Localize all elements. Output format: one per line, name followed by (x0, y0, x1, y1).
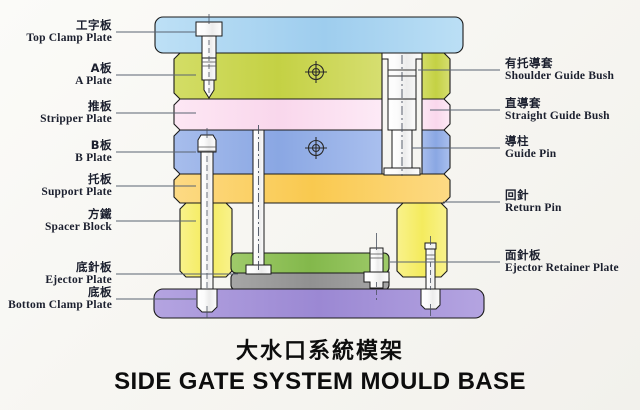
label-shoulder-guide-bush-en: Shoulder Guide Bush (505, 70, 614, 82)
label-top-clamp-plate: 工字板 Top Clamp Plate (0, 19, 112, 45)
label-a-plate-cn: A板 (0, 62, 112, 74)
plate-support (174, 174, 450, 203)
figure-title-english: SIDE GATE SYSTEM MOULD BASE (0, 368, 640, 396)
label-a-plate: A板 A Plate (0, 62, 112, 88)
label-guide-pin: 導柱 Guide Pin (505, 135, 556, 161)
plate-b-right (422, 130, 450, 174)
label-spacer-block-cn: 方鐵 (0, 208, 112, 220)
label-return-pin-cn: 回針 (505, 189, 562, 201)
label-ejector-plate-cn: 底針板 (0, 261, 112, 273)
label-bottom-clamp-plate-cn: 底板 (0, 286, 112, 298)
label-return-pin-en: Return Pin (505, 202, 562, 214)
label-support-plate-en: Support Plate (0, 186, 112, 198)
label-shoulder-guide-bush-cn: 有托導套 (505, 57, 614, 69)
spacer-block-right (397, 203, 447, 277)
label-b-plate-cn: B板 (0, 139, 112, 151)
label-top-clamp-plate-en: Top Clamp Plate (0, 32, 112, 44)
plate-stripper (174, 99, 382, 130)
label-guide-pin-cn: 導柱 (505, 135, 556, 147)
label-ejector-retainer-plate-cn: 面針板 (505, 249, 619, 261)
label-top-clamp-plate-cn: 工字板 (0, 19, 112, 31)
plate-stripper-right (422, 99, 450, 130)
figure-title-chinese: 大水口系統模架 (0, 333, 640, 365)
label-b-plate: B板 B Plate (0, 139, 112, 165)
label-return-pin: 回針 Return Pin (505, 189, 562, 215)
plate-a-right (422, 53, 450, 99)
label-straight-guide-bush: 直導套 Straight Guide Bush (505, 97, 610, 123)
label-shoulder-guide-bush: 有托導套 Shoulder Guide Bush (505, 57, 614, 83)
label-b-plate-en: B Plate (0, 152, 112, 164)
label-stripper-plate: 推板 Stripper Plate (0, 100, 112, 126)
label-stripper-plate-cn: 推板 (0, 100, 112, 112)
label-ejector-plate: 底針板 Ejector Plate (0, 261, 112, 287)
label-spacer-block-en: Spacer Block (0, 221, 112, 233)
label-support-plate: 托板 Support Plate (0, 173, 112, 199)
label-bottom-clamp-plate: 底板 Bottom Clamp Plate (0, 286, 112, 312)
figure-title: 大水口系統模架 SIDE GATE SYSTEM MOULD BASE (0, 333, 640, 396)
label-stripper-plate-en: Stripper Plate (0, 113, 112, 125)
label-ejector-retainer-plate: 面針板 Ejector Retainer Plate (505, 249, 619, 275)
label-bottom-clamp-plate-en: Bottom Clamp Plate (0, 299, 112, 311)
label-guide-pin-en: Guide Pin (505, 148, 556, 160)
label-a-plate-en: A Plate (0, 75, 112, 87)
diagram-canvas: 工字板 Top Clamp Plate A板 A Plate 推板 Stripp… (0, 0, 640, 410)
label-support-plate-cn: 托板 (0, 173, 112, 185)
label-ejector-retainer-plate-en: Ejector Retainer Plate (505, 262, 619, 274)
label-straight-guide-bush-en: Straight Guide Bush (505, 110, 610, 122)
label-straight-guide-bush-cn: 直導套 (505, 97, 610, 109)
label-spacer-block: 方鐵 Spacer Block (0, 208, 112, 234)
